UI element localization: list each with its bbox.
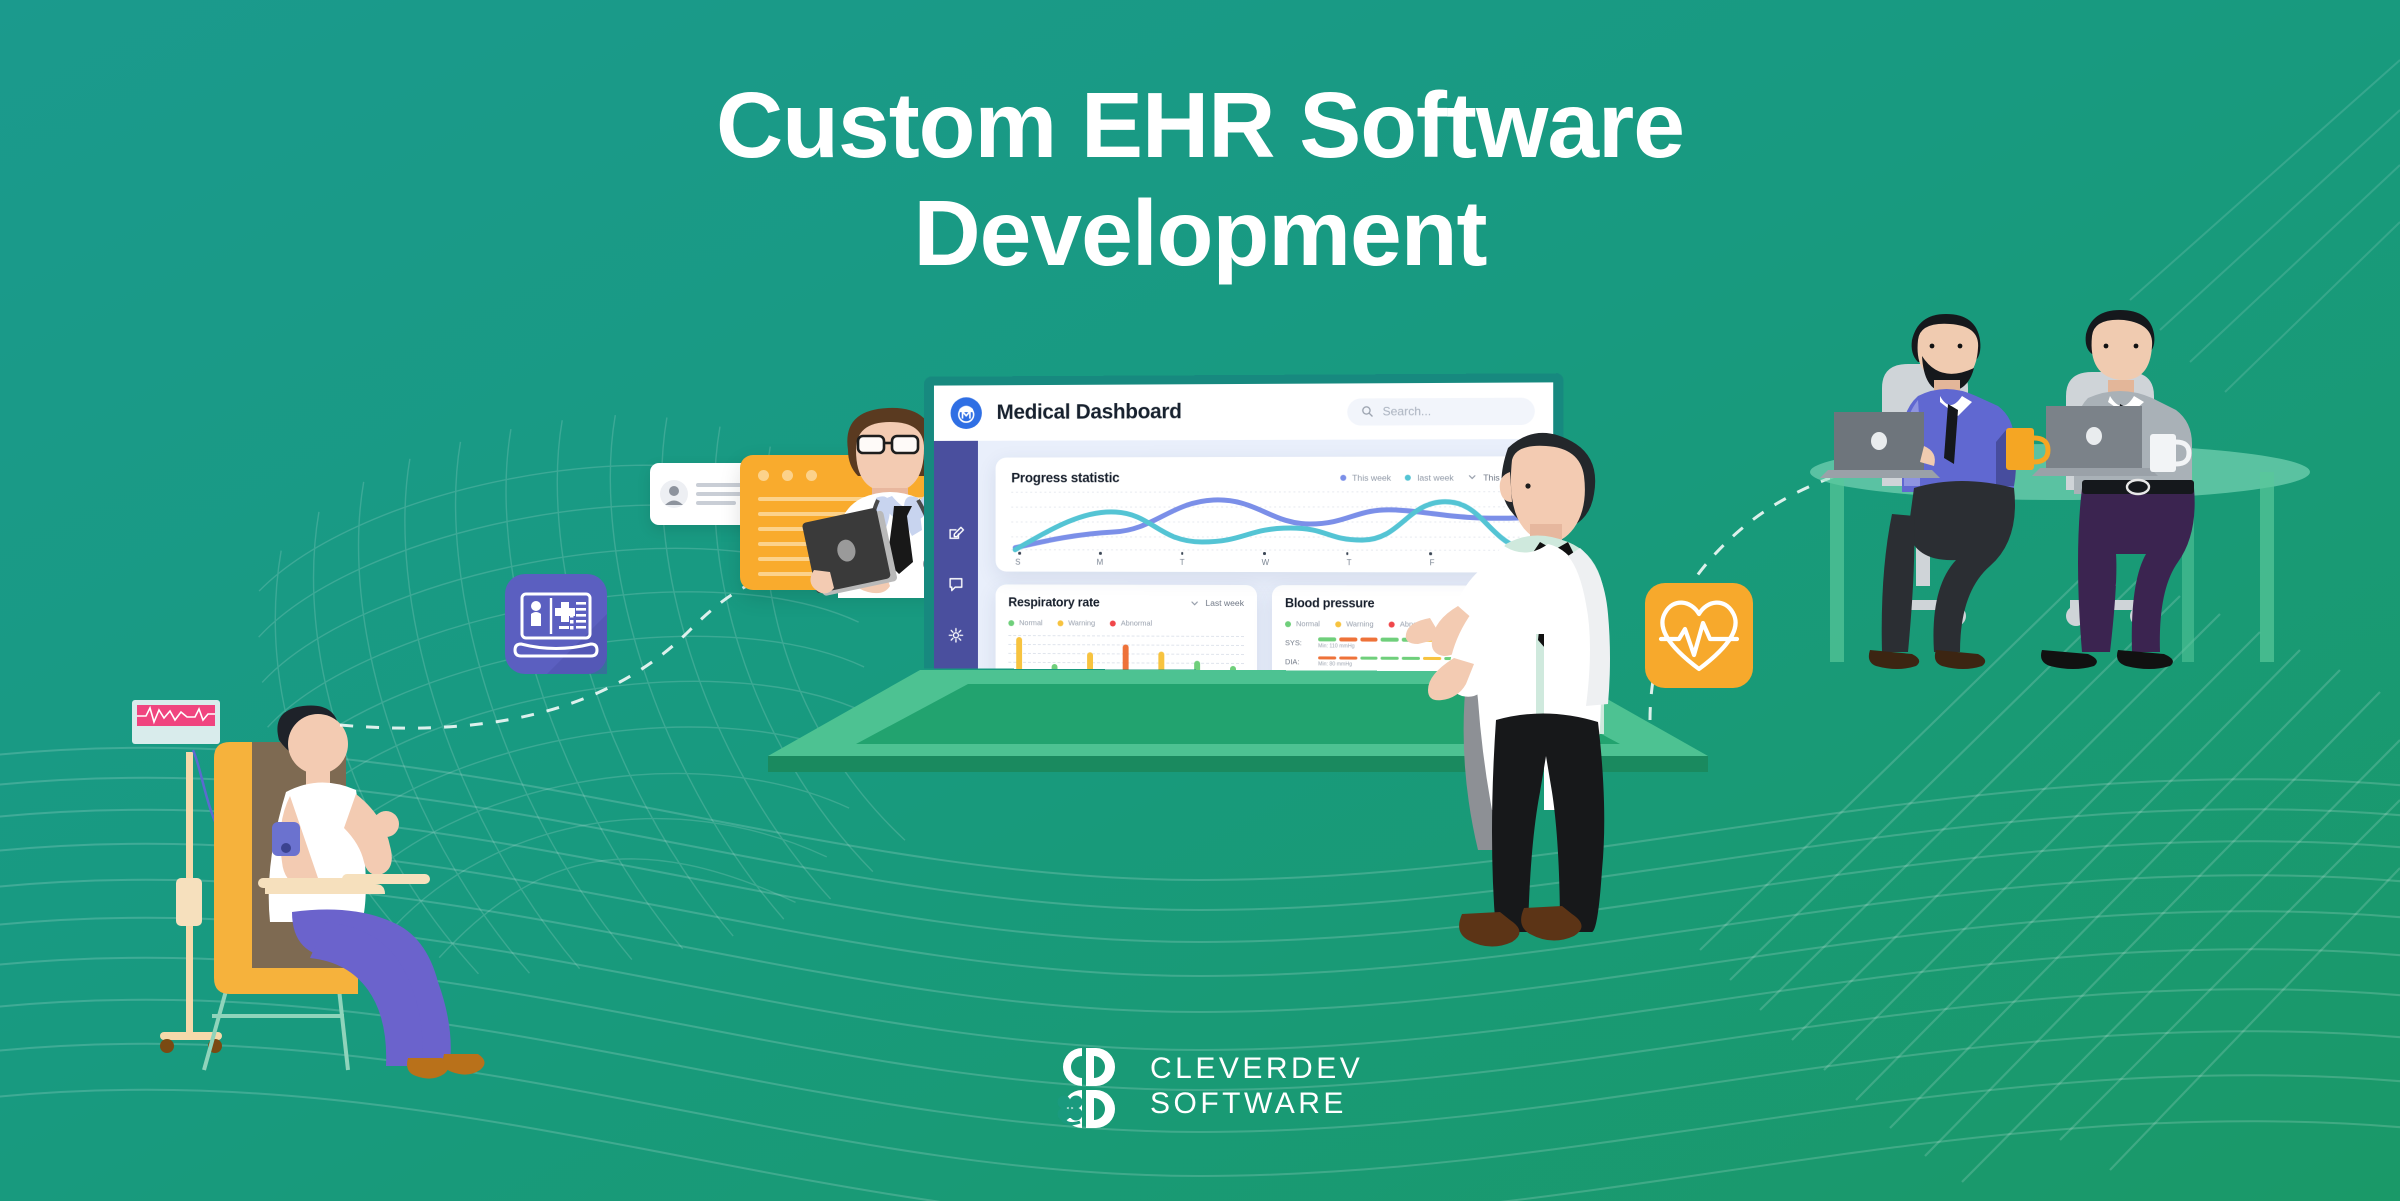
iv-pole — [160, 752, 222, 1053]
x-label: S — [1015, 557, 1020, 566]
x-label: M — [1097, 557, 1104, 566]
search-icon — [1361, 405, 1373, 417]
legend-warning-label: Warning — [1068, 618, 1095, 627]
dashboard-sidebar — [934, 441, 978, 669]
legend-abnormal: Abnormal — [1110, 619, 1152, 628]
x-label: T — [1180, 557, 1185, 566]
legend-this-week: This week — [1340, 472, 1391, 482]
bp-min: Min: 110 mmHg — [1318, 643, 1354, 649]
chevron-down-icon — [1190, 598, 1199, 607]
legend-normal: Normal — [1285, 619, 1320, 628]
patient-scene-illustration — [140, 700, 560, 1100]
search-placeholder: Search... — [1383, 404, 1432, 418]
respiratory-period-dropdown[interactable]: Last week — [1190, 598, 1244, 608]
laptop-patient-record-icon — [505, 574, 607, 674]
legend-normal-label: Normal — [1296, 619, 1320, 628]
emr-laptop-card[interactable] — [505, 574, 607, 674]
user-avatar-icon — [660, 480, 688, 508]
brand-logo-text: CLEVERDEV SOFTWARE — [1150, 1051, 1363, 1122]
legend-this-week-label: This week — [1352, 472, 1391, 482]
respiratory-period-label: Last week — [1205, 598, 1244, 608]
legend-normal-label: Normal — [1019, 618, 1042, 627]
x-label: W — [1262, 558, 1270, 567]
page-title-line1: Custom EHR Software — [716, 73, 1684, 177]
brand-logo[interactable]: CLEVERDEV SOFTWARE — [1040, 1042, 1363, 1130]
ecg-monitor-icon — [132, 700, 220, 744]
legend-abnormal-label: Abnormal — [1121, 619, 1152, 628]
page-title: Custom EHR Software Development — [0, 72, 2400, 288]
progress-card-title: Progress statistic — [1011, 470, 1119, 485]
bar-row — [1008, 635, 1244, 672]
brand-name-line2: SOFTWARE — [1150, 1086, 1363, 1121]
respiratory-legend: Normal Warning Abnormal — [1008, 618, 1244, 628]
bp-min: Min: 80 mmHg — [1318, 661, 1352, 667]
respiratory-rate-card: Respiratory rate Last week — [996, 584, 1257, 671]
blood-pressure-card-title: Blood pressure — [1285, 596, 1374, 610]
respiratory-card-title: Respiratory rate — [1008, 595, 1099, 609]
legend-warning: Warning — [1057, 618, 1095, 627]
medical-m-logo — [950, 396, 983, 430]
brand-name-line1: CLEVERDEV — [1150, 1051, 1363, 1086]
edit-square-icon[interactable] — [948, 524, 965, 541]
legend-warning: Warning — [1335, 619, 1374, 628]
x-label: T — [1347, 558, 1352, 567]
cleverdev-cd-clover-logo — [1040, 1042, 1128, 1130]
bp-row-label: DIA: — [1285, 656, 1311, 666]
page-title-line2: Development — [0, 180, 2400, 288]
respiratory-bar-chart — [1008, 635, 1244, 672]
developers-at-desk-illustration — [1810, 300, 2310, 680]
dashboard-title: Medical Dashboard — [997, 400, 1182, 425]
respiratory-card-header: Respiratory rate Last week — [1008, 595, 1244, 610]
doctor-presenting-illustration — [1400, 420, 1690, 950]
legend-normal: Normal — [1008, 618, 1042, 627]
gear-icon[interactable] — [948, 627, 965, 644]
bp-row-label: SYS: — [1285, 637, 1311, 647]
legend-warning-label: Warning — [1346, 619, 1373, 628]
chat-bubble-icon[interactable] — [948, 575, 965, 592]
